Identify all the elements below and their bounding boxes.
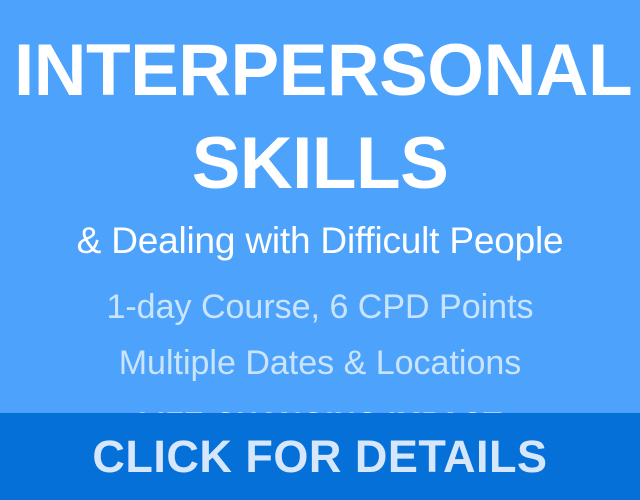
detail-line-dates-locations: Multiple Dates & Locations bbox=[119, 346, 522, 380]
headline-line-1: INTERPERSONAL bbox=[14, 34, 626, 107]
ad-banner[interactable]: INTERPERSONAL SKILLS & Dealing with Diff… bbox=[0, 0, 640, 500]
cta-button[interactable]: CLICK FOR DETAILS bbox=[0, 413, 640, 500]
ad-content-area: INTERPERSONAL SKILLS & Dealing with Diff… bbox=[0, 0, 640, 413]
subheadline: & Dealing with Difficult People bbox=[77, 222, 564, 259]
headline-line-2: SKILLS bbox=[14, 127, 626, 200]
cta-button-label: CLICK FOR DETAILS bbox=[92, 434, 547, 479]
detail-line-course-info: 1-day Course, 6 CPD Points bbox=[106, 290, 533, 324]
